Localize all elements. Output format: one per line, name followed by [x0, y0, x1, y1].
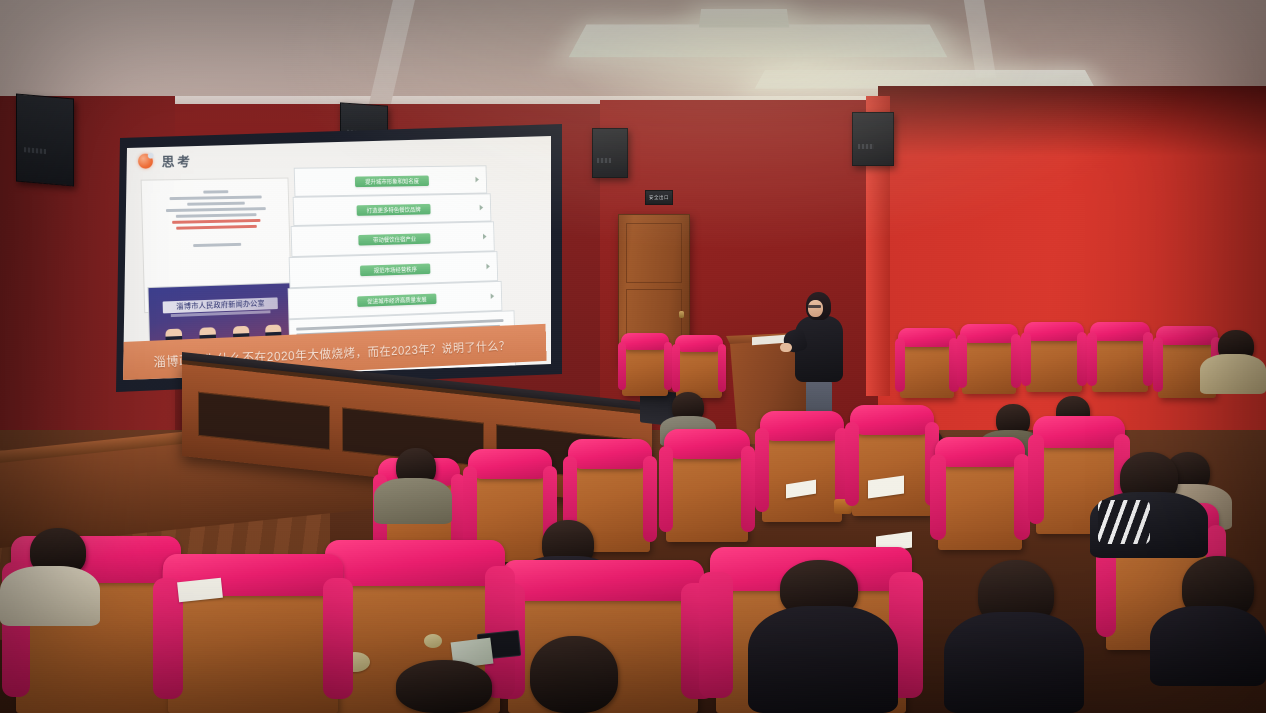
slide-stack-list: 提升城市形象和知名度 打造更多特色餐饮品牌 带动餐饮住宿产业 规范市场经营秩序 …	[294, 165, 507, 352]
speaker-back-icon	[592, 128, 628, 178]
attendee-shoulders	[748, 606, 898, 713]
stack-tag-label: 带动餐饮住宿产业	[358, 233, 430, 245]
slide-title: 思考	[161, 151, 193, 170]
left-card-line	[187, 202, 245, 206]
stack-tag-label: 促进城市经济高质量发展	[357, 293, 436, 306]
stack-tag-label: 提升城市形象和知名度	[355, 175, 429, 187]
wall-shadow	[878, 86, 1266, 156]
presenter-hand	[780, 343, 792, 352]
seat[interactable]	[762, 424, 842, 522]
stack-tag-label: 打造更多特色餐饮品牌	[357, 203, 431, 215]
attendee-jacket-stripes	[1098, 500, 1150, 544]
left-card-heading-line	[203, 190, 228, 193]
seat[interactable]	[962, 332, 1016, 394]
seat[interactable]	[938, 450, 1022, 550]
left-card-line-highlight	[172, 219, 260, 224]
left-card-line-highlight	[176, 225, 257, 230]
speaker-left-icon	[16, 93, 74, 186]
left-card-line	[176, 213, 257, 218]
seat[interactable]	[676, 342, 722, 398]
left-card-line	[170, 195, 262, 200]
seat[interactable]	[900, 336, 954, 398]
stack-row: 提升城市形象和知名度	[294, 165, 487, 197]
slide-title-row: 思考	[138, 151, 193, 170]
stack-tag-label: 规范市场经营秩序	[360, 263, 430, 276]
left-card-text-block	[150, 186, 282, 251]
attendee-head	[530, 636, 618, 713]
presenter-face	[808, 300, 823, 317]
attendee-shoulders	[374, 478, 452, 524]
presenter-glasses-icon	[808, 305, 821, 308]
seat[interactable]	[622, 340, 668, 396]
left-card-footer-line	[193, 243, 241, 247]
speaker-right-icon	[852, 112, 894, 166]
seat[interactable]	[666, 442, 748, 542]
left-card-line	[166, 207, 266, 212]
attendee-head	[396, 660, 492, 713]
attendee-shoulders	[944, 612, 1084, 713]
presentation-slide: 思考 淄博市人民政府新闻办公室	[121, 136, 551, 380]
attendee-shoulders	[1150, 606, 1266, 686]
attendee-shoulders	[1200, 354, 1266, 394]
attendee-shoulders	[0, 566, 100, 626]
seat[interactable]	[1092, 330, 1148, 392]
seat[interactable]	[852, 418, 932, 516]
desk-object	[424, 634, 442, 648]
orange-circle-icon	[138, 154, 153, 169]
exit-sign-text: 安全出口	[649, 195, 669, 201]
exit-sign: 安全出口	[645, 190, 673, 205]
lecture-hall-photo: 安全出口 思考	[0, 0, 1266, 713]
seat[interactable]	[1026, 330, 1082, 392]
